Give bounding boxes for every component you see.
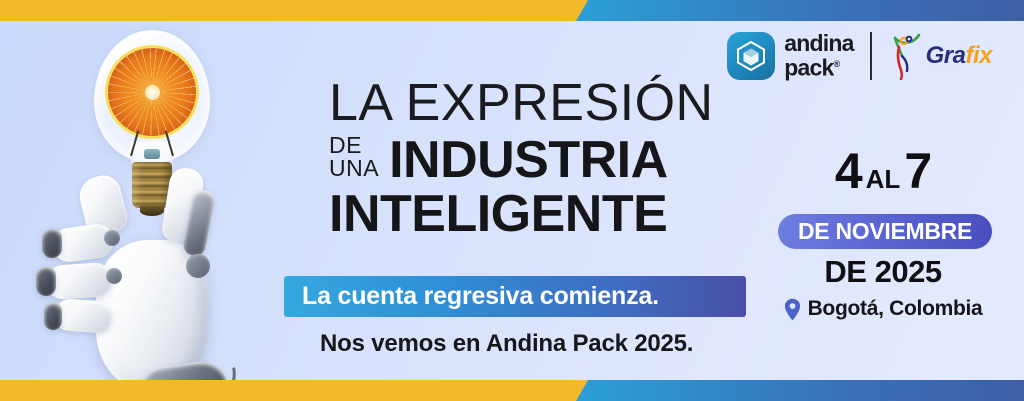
countdown-ribbon-text: La cuenta regresiva comienza. xyxy=(284,282,659,311)
andina-pack-word-line1: andina xyxy=(784,33,853,54)
andina-pack-word-line2: pack® xyxy=(784,54,853,79)
headline-word-de: DE xyxy=(329,134,379,157)
hero-artwork xyxy=(38,18,278,401)
top-bar-blue-segment xyxy=(576,0,1024,21)
robot-knuckle-2 xyxy=(106,268,122,284)
event-location: Bogotá, Colombia xyxy=(778,297,988,321)
logo-divider xyxy=(870,32,872,80)
robot-wrist-joint xyxy=(186,254,210,278)
registered-mark: ® xyxy=(834,59,840,69)
cube-hexagon-icon xyxy=(737,41,765,71)
top-decorative-bar xyxy=(0,0,1024,21)
bottom-bar-blue-segment xyxy=(576,380,1024,401)
date-connector: AL xyxy=(866,164,901,194)
robot-fingertip-3 xyxy=(44,302,62,330)
orange-slice-icon xyxy=(108,48,196,136)
tagline-text: Nos vemos en Andina Pack 2025. xyxy=(320,330,693,358)
headline-word-industria: INDUSTRIA xyxy=(389,135,668,185)
bottom-decorative-bar xyxy=(0,380,1024,401)
headline-small-words: DE UNA xyxy=(329,134,379,185)
date-day-end: 7 xyxy=(904,143,931,199)
top-bar-yellow-segment xyxy=(0,0,600,21)
countdown-ribbon: La cuenta regresiva comienza. xyxy=(284,276,746,317)
headline-line-2: DE UNA INDUSTRIA xyxy=(329,134,714,185)
south-america-map-icon xyxy=(888,32,922,80)
logo-group: andina pack® Grafix xyxy=(727,32,992,80)
grafix-word-part2: fix xyxy=(965,42,992,69)
robot-knuckle-1 xyxy=(104,230,120,246)
robot-fingertip-1 xyxy=(42,228,62,258)
date-day-start: 4 xyxy=(835,143,862,199)
andina-pack-wordmark: andina pack® xyxy=(784,33,853,79)
grafix-word-part1: Gra xyxy=(926,42,966,69)
bulb-filament xyxy=(120,130,184,156)
robotic-hand-image xyxy=(38,168,278,401)
event-year: DE 2025 xyxy=(778,255,988,288)
event-month-pill: DE NOVIEMBRE xyxy=(778,214,992,249)
headline-word-inteligente: INTELIGENTE xyxy=(329,186,714,242)
robot-fingertip-2 xyxy=(36,266,56,296)
event-details-block: 4AL7 DE NOVIEMBRE DE 2025 Bogotá, Colomb… xyxy=(778,146,988,321)
andina-pack-promo-banner: LA EXPRESIÓN DE UNA INDUSTRIA INTELIGENT… xyxy=(0,0,1024,401)
headline-block: LA EXPRESIÓN DE UNA INDUSTRIA INTELIGENT… xyxy=(329,76,714,242)
grafix-logo[interactable]: Grafix xyxy=(888,32,992,80)
event-date-range: 4AL7 xyxy=(778,146,988,209)
headline-word-una: UNA xyxy=(329,157,379,180)
grafix-wordmark: Grafix xyxy=(926,42,992,70)
map-pin-icon xyxy=(784,298,801,321)
bottom-bar-yellow-segment xyxy=(0,380,600,401)
headline-line-1: LA EXPRESIÓN xyxy=(329,76,714,130)
andina-pack-logo[interactable]: andina pack® xyxy=(727,32,853,80)
event-location-text: Bogotá, Colombia xyxy=(808,297,983,321)
andina-pack-box-icon xyxy=(727,32,775,80)
